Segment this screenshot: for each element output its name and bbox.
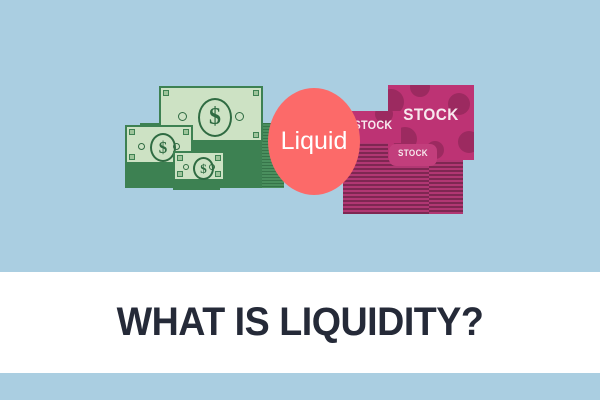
stock-certificates-icon: STOCK STOCK STOCK [343,78,475,220]
dollar-sign-icon: $ [198,98,232,137]
bill-dot-left [178,112,187,121]
bill-corner-mark [183,129,189,135]
title-band: WHAT IS LIQUIDITY? [0,272,600,373]
dollar-sign-icon: $ [193,157,214,180]
bill-corner-mark [177,171,183,177]
bill-corner-mark [129,129,135,135]
stock-dot-decoration [410,85,430,97]
bill-corner-mark [253,90,259,96]
bill-corner-mark [215,171,221,177]
bill-dot-right [235,112,244,121]
bill-corner-mark [163,90,169,96]
stock-label-small: STOCK [391,148,434,158]
bill-dot-left [138,143,145,150]
bill-corner-mark [129,154,135,160]
dollar-bill-small: $ [173,151,225,181]
bill-corner-mark [177,155,183,161]
stock-dot-decoration [458,131,474,153]
bill-corner-mark [253,132,259,138]
stock-certificate-small: STOCK [389,144,437,166]
page-title: WHAT IS LIQUIDITY? [18,272,582,373]
liquidity-illustration: $ $ $ [125,78,475,220]
stock-label-large: STOCK [392,105,469,125]
poster-canvas: $ $ $ [0,0,600,400]
liquid-badge-label: Liquid [281,129,348,154]
bill-corner-mark [215,155,221,161]
bill-dot-left [183,164,189,170]
liquid-badge-icon: Liquid [268,88,360,195]
